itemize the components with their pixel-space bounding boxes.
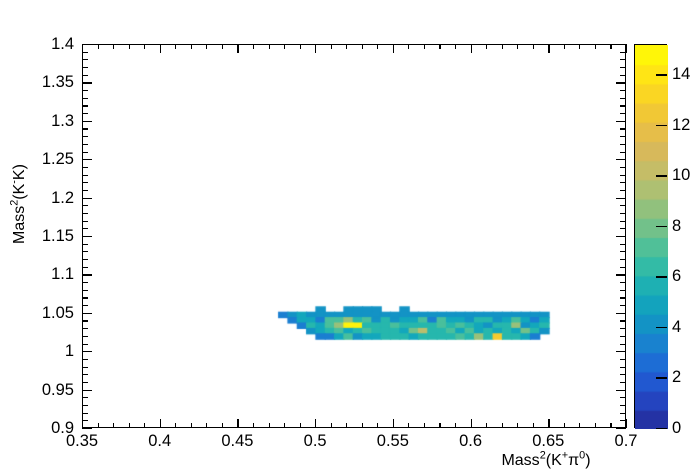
- x-minor-tick-top: [610, 44, 611, 49]
- x-minor-tick: [439, 423, 440, 428]
- y-minor-tick: [82, 267, 88, 268]
- heatmap-data-area: [83, 45, 627, 429]
- y-minor-tick: [82, 98, 88, 99]
- x-minor-tick: [206, 423, 207, 428]
- x-major-tick: [393, 419, 394, 428]
- x-minor-tick: [595, 423, 596, 428]
- x-minor-tick: [579, 423, 580, 428]
- y-major-tick: [82, 390, 92, 391]
- y-minor-tick-right: [620, 397, 626, 398]
- y-minor-tick-right: [620, 259, 626, 260]
- x-minor-tick-top: [517, 44, 518, 49]
- x-minor-tick-top: [191, 44, 192, 49]
- y-major-tick-right: [616, 313, 626, 314]
- y-minor-tick-right: [620, 297, 626, 298]
- x-tick-label: 0.55: [353, 433, 433, 450]
- colorbar-tick-label: 8: [672, 218, 698, 235]
- y-minor-tick-right: [620, 59, 626, 60]
- colorbar-tick-label: 10: [672, 167, 698, 184]
- y-minor-tick: [82, 374, 88, 375]
- x-major-tick: [237, 419, 238, 428]
- colorbar-tick: [656, 428, 667, 429]
- y-minor-tick: [82, 67, 88, 68]
- colorbar-tick-label: 0: [672, 420, 698, 437]
- colorbar-tick-label: 14: [672, 66, 698, 83]
- y-minor-tick-right: [620, 167, 626, 168]
- y-minor-tick-right: [620, 221, 626, 222]
- x-minor-tick: [300, 423, 301, 428]
- x-minor-tick-top: [129, 44, 130, 49]
- y-tick-label: 0.95: [0, 382, 74, 399]
- y-minor-tick: [82, 420, 88, 421]
- y-minor-tick: [82, 136, 88, 137]
- y-major-tick: [82, 121, 92, 122]
- x-tick-label: 0.7: [586, 433, 666, 450]
- y-tick-label: 1.05: [0, 305, 74, 322]
- y-minor-tick-right: [620, 67, 626, 68]
- y-minor-tick-right: [620, 175, 626, 176]
- colorbar-tick: [656, 125, 667, 126]
- x-minor-tick: [486, 423, 487, 428]
- y-major-tick-right: [616, 390, 626, 391]
- colorbar-tick-label: 2: [672, 369, 698, 386]
- y-major-tick-right: [616, 351, 626, 352]
- y-tick-label: 1.1: [0, 266, 74, 283]
- x-minor-tick: [362, 423, 363, 428]
- y-minor-tick-right: [620, 267, 626, 268]
- colorbar-tick: [656, 74, 667, 75]
- x-minor-tick-top: [206, 44, 207, 49]
- y-minor-tick: [82, 144, 88, 145]
- y-minor-tick-right: [620, 52, 626, 53]
- x-minor-tick-top: [579, 44, 580, 49]
- x-major-tick-top: [160, 44, 161, 53]
- y-minor-tick-right: [620, 336, 626, 337]
- y-minor-tick-right: [620, 374, 626, 375]
- x-minor-tick-top: [564, 44, 565, 49]
- x-minor-tick: [253, 423, 254, 428]
- y-minor-tick: [82, 297, 88, 298]
- y-minor-tick: [82, 282, 88, 283]
- x-major-tick: [471, 419, 472, 428]
- x-minor-tick-top: [533, 44, 534, 49]
- x-minor-tick: [564, 423, 565, 428]
- y-minor-tick: [82, 128, 88, 129]
- y-minor-tick: [82, 205, 88, 206]
- x-major-tick: [626, 419, 627, 428]
- y-minor-tick: [82, 190, 88, 191]
- x-minor-tick-top: [113, 44, 114, 49]
- y-minor-tick: [82, 305, 88, 306]
- x-minor-tick-top: [424, 44, 425, 49]
- x-minor-tick: [502, 423, 503, 428]
- x-major-tick-top: [548, 44, 549, 53]
- y-major-tick-right: [616, 236, 626, 237]
- x-tick-label: 0.5: [275, 433, 355, 450]
- y-minor-tick-right: [620, 344, 626, 345]
- x-major-tick: [315, 419, 316, 428]
- y-tick-label: 0.9: [0, 420, 74, 437]
- y-minor-tick-right: [620, 105, 626, 106]
- y-major-tick: [82, 82, 92, 83]
- x-minor-tick-top: [408, 44, 409, 49]
- y-major-tick-right: [616, 159, 626, 160]
- y-minor-tick-right: [620, 128, 626, 129]
- y-minor-tick-right: [620, 405, 626, 406]
- x-minor-tick-top: [486, 44, 487, 49]
- y-major-tick: [82, 351, 92, 352]
- colorbar-tick: [656, 276, 667, 277]
- y-minor-tick-right: [620, 382, 626, 383]
- y-minor-tick-right: [620, 367, 626, 368]
- x-tick-label: 0.4: [120, 433, 200, 450]
- x-minor-tick-top: [362, 44, 363, 49]
- x-major-tick-top: [626, 44, 627, 53]
- colorbar-tick: [656, 327, 667, 328]
- y-minor-tick-right: [620, 213, 626, 214]
- y-minor-tick: [82, 405, 88, 406]
- y-minor-tick-right: [620, 244, 626, 245]
- y-minor-tick: [82, 221, 88, 222]
- y-minor-tick-right: [620, 136, 626, 137]
- y-minor-tick: [82, 228, 88, 229]
- y-minor-tick-right: [620, 282, 626, 283]
- x-tick-label: 0.6: [431, 433, 511, 450]
- colorbar-tick-label: 6: [672, 268, 698, 285]
- y-minor-tick: [82, 213, 88, 214]
- y-minor-tick-right: [620, 359, 626, 360]
- x-minor-tick: [269, 423, 270, 428]
- y-minor-tick: [82, 344, 88, 345]
- y-minor-tick: [82, 75, 88, 76]
- y-minor-tick-right: [620, 290, 626, 291]
- x-minor-tick-top: [346, 44, 347, 49]
- x-axis-title: Mass2(K+π0): [466, 450, 626, 470]
- x-minor-tick: [610, 423, 611, 428]
- y-minor-tick: [82, 167, 88, 168]
- y-minor-tick-right: [620, 98, 626, 99]
- x-major-tick-top: [471, 44, 472, 53]
- y-minor-tick: [82, 105, 88, 106]
- y-minor-tick-right: [620, 113, 626, 114]
- y-major-tick: [82, 159, 92, 160]
- y-minor-tick: [82, 59, 88, 60]
- x-minor-tick-top: [439, 44, 440, 49]
- x-minor-tick-top: [377, 44, 378, 49]
- y-minor-tick-right: [620, 228, 626, 229]
- x-minor-tick-top: [175, 44, 176, 49]
- y-major-tick-right: [616, 274, 626, 275]
- y-major-tick: [82, 313, 92, 314]
- x-tick-label: 0.65: [508, 433, 588, 450]
- y-minor-tick: [82, 328, 88, 329]
- y-tick-label: 1.15: [0, 228, 74, 245]
- y-minor-tick: [82, 320, 88, 321]
- x-minor-tick: [113, 423, 114, 428]
- y-major-tick-right: [616, 121, 626, 122]
- colorbar-tick: [656, 226, 667, 227]
- y-minor-tick-right: [620, 305, 626, 306]
- y-major-tick: [82, 236, 92, 237]
- y-minor-tick-right: [620, 205, 626, 206]
- y-major-tick-right: [616, 198, 626, 199]
- y-minor-tick: [82, 259, 88, 260]
- plot-frame: [82, 44, 626, 428]
- x-minor-tick: [144, 423, 145, 428]
- y-major-tick-right: [616, 428, 626, 429]
- x-axis-title-text: Mass2(K+π0): [501, 452, 590, 469]
- y-minor-tick: [82, 359, 88, 360]
- y-minor-tick: [82, 52, 88, 53]
- y-minor-tick: [82, 367, 88, 368]
- x-minor-tick-top: [455, 44, 456, 49]
- y-minor-tick-right: [620, 251, 626, 252]
- y-tick-label: 1.3: [0, 113, 74, 130]
- y-minor-tick-right: [620, 320, 626, 321]
- root-canvas: Mass2(K-K) Mass2(K+π0) 0.350.40.450.50.5…: [0, 0, 698, 476]
- y-minor-tick-right: [620, 328, 626, 329]
- y-tick-label: 1: [0, 343, 74, 360]
- x-minor-tick: [408, 423, 409, 428]
- y-minor-tick: [82, 152, 88, 153]
- x-minor-tick-top: [144, 44, 145, 49]
- y-minor-tick: [82, 244, 88, 245]
- x-tick-label: 0.45: [197, 433, 277, 450]
- colorbar-tick: [656, 377, 667, 378]
- y-major-tick: [82, 428, 92, 429]
- y-tick-label: 1.4: [0, 36, 74, 53]
- y-minor-tick-right: [620, 420, 626, 421]
- y-tick-label: 1.2: [0, 190, 74, 207]
- x-minor-tick-top: [331, 44, 332, 49]
- y-minor-tick: [82, 413, 88, 414]
- x-minor-tick-top: [253, 44, 254, 49]
- x-minor-tick: [98, 423, 99, 428]
- y-major-tick-right: [616, 44, 626, 45]
- x-minor-tick: [129, 423, 130, 428]
- x-minor-tick: [424, 423, 425, 428]
- y-minor-tick: [82, 382, 88, 383]
- x-minor-tick-top: [300, 44, 301, 49]
- y-minor-tick: [82, 397, 88, 398]
- colorbar-gradient: [635, 45, 668, 429]
- y-tick-label: 1.35: [0, 74, 74, 91]
- colorbar: [634, 44, 667, 428]
- x-major-tick-top: [315, 44, 316, 53]
- y-minor-tick: [82, 251, 88, 252]
- x-major-tick: [160, 419, 161, 428]
- colorbar-tick-label: 4: [672, 319, 698, 336]
- y-tick-label: 1.25: [0, 151, 74, 168]
- x-minor-tick: [191, 423, 192, 428]
- x-minor-tick-top: [284, 44, 285, 49]
- x-minor-tick-top: [269, 44, 270, 49]
- x-minor-tick: [517, 423, 518, 428]
- y-minor-tick-right: [620, 182, 626, 183]
- y-major-tick-right: [616, 82, 626, 83]
- y-minor-tick: [82, 175, 88, 176]
- x-major-tick: [548, 419, 549, 428]
- x-minor-tick-top: [502, 44, 503, 49]
- y-minor-tick-right: [620, 190, 626, 191]
- x-major-tick-top: [237, 44, 238, 53]
- y-major-tick: [82, 274, 92, 275]
- y-minor-tick: [82, 336, 88, 337]
- y-minor-tick: [82, 182, 88, 183]
- x-minor-tick-top: [222, 44, 223, 49]
- x-minor-tick: [533, 423, 534, 428]
- y-major-tick: [82, 198, 92, 199]
- x-minor-tick: [175, 423, 176, 428]
- colorbar-tick: [656, 175, 667, 176]
- y-minor-tick: [82, 113, 88, 114]
- y-minor-tick-right: [620, 75, 626, 76]
- y-minor-tick: [82, 290, 88, 291]
- x-minor-tick: [455, 423, 456, 428]
- y-major-tick: [82, 44, 92, 45]
- y-minor-tick-right: [620, 413, 626, 414]
- y-minor-tick-right: [620, 90, 626, 91]
- y-minor-tick: [82, 90, 88, 91]
- y-minor-tick-right: [620, 144, 626, 145]
- x-minor-tick-top: [595, 44, 596, 49]
- x-major-tick-top: [393, 44, 394, 53]
- colorbar-tick-label: 12: [672, 117, 698, 134]
- x-minor-tick: [284, 423, 285, 428]
- y-minor-tick-right: [620, 152, 626, 153]
- x-minor-tick: [222, 423, 223, 428]
- x-minor-tick-top: [98, 44, 99, 49]
- x-minor-tick: [346, 423, 347, 428]
- x-minor-tick: [331, 423, 332, 428]
- x-minor-tick: [377, 423, 378, 428]
